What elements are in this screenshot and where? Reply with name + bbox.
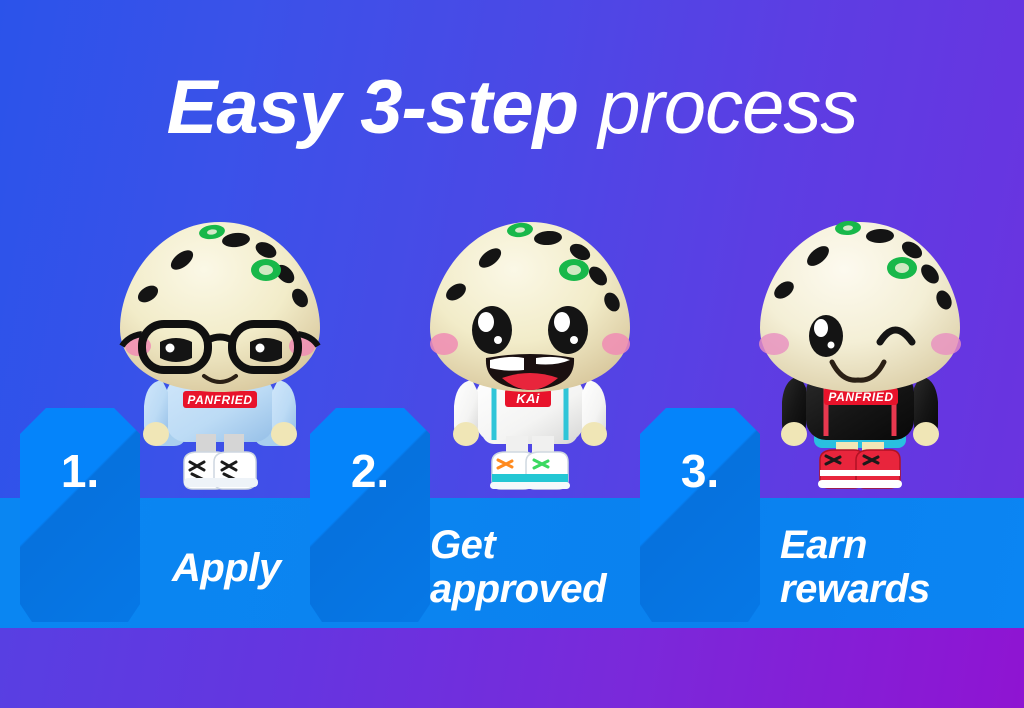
mascot-body: KAi (453, 376, 607, 489)
cheek-left (430, 333, 458, 355)
svg-text:PANFRIED: PANFRIED (828, 390, 893, 404)
step-badge-fold-shadow (310, 408, 430, 622)
mascot-head (430, 222, 630, 392)
eye-open (809, 315, 843, 357)
svg-text:KAi: KAi (516, 391, 540, 406)
page-title: Easy 3-step process (0, 66, 1024, 150)
svg-text:PANFRIED: PANFRIED (187, 393, 252, 407)
mascot-shoes (184, 452, 258, 489)
mascot-illustration: KAi (410, 212, 650, 512)
cheek-right (931, 333, 961, 355)
mascot-shoes (818, 450, 902, 488)
mascot-hand-right (271, 422, 297, 446)
mascot-shoes (490, 452, 570, 489)
mascot-hand-left (143, 422, 169, 446)
mascot-illustration: PANFRIED (740, 212, 980, 512)
title-light-part: process (598, 65, 857, 150)
step-label-1: Apply (172, 546, 281, 590)
mascot-step-2: KAi (410, 212, 650, 512)
step-number-3: 3. (640, 448, 760, 494)
step-label-2: Get approved (430, 523, 606, 611)
mascot-head (759, 220, 961, 392)
chest-logo-badge: PANFRIED (183, 391, 257, 408)
step-number-2: 2. (310, 448, 430, 494)
step-number-1: 1. (20, 448, 140, 494)
step-badge-1[interactable]: 1. (20, 408, 140, 622)
title-bold-part: Easy 3-step (167, 65, 578, 150)
mascot-hand-right (581, 422, 607, 446)
cheek-left (759, 333, 789, 355)
promo-banner: Easy 3-step process (0, 0, 1024, 708)
step-label-3: Earn rewards (780, 523, 930, 611)
step-badge-fold-shadow (640, 408, 760, 622)
cheek-right (602, 333, 630, 355)
step-badge-2[interactable]: 2. (310, 408, 430, 622)
mascot-step-3: PANFRIED (740, 212, 980, 512)
mascot-hand-left (453, 422, 479, 446)
step-badge-fold-shadow (20, 408, 140, 622)
step-badge-3[interactable]: 3. (640, 408, 760, 622)
mascot-hand-right (913, 422, 939, 446)
mascot-hand-left (781, 422, 807, 446)
mascot-head (120, 222, 320, 392)
mascot-body: PANFRIED (143, 376, 297, 489)
